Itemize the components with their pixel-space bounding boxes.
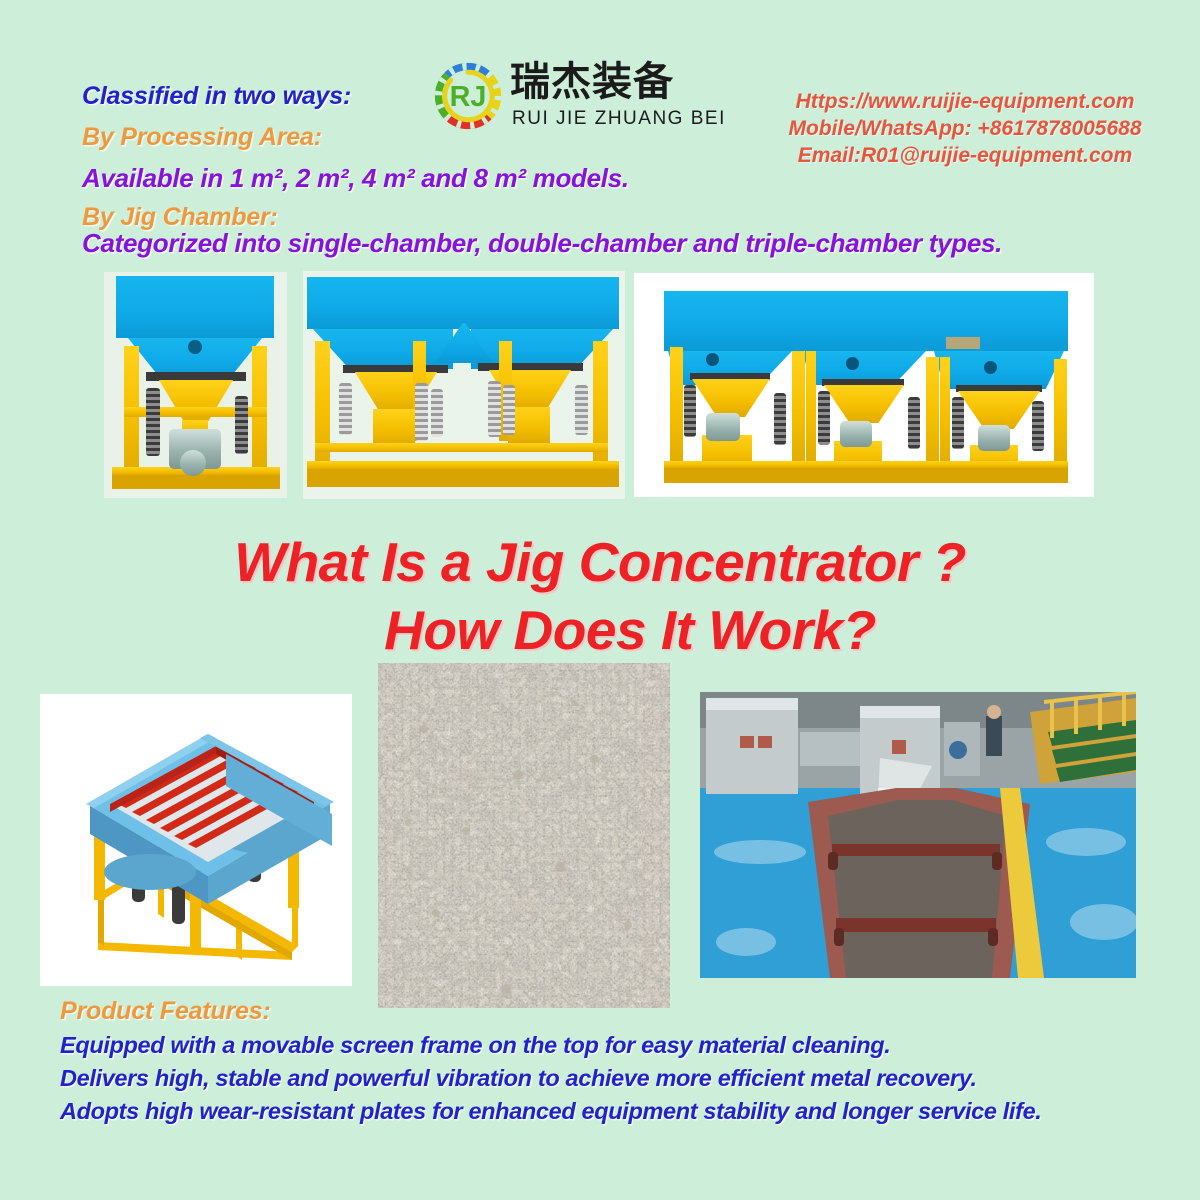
gear-logo-icon: RJ [432,60,504,132]
logo-pinyin-name: RUI JIE ZHUANG BEI [512,108,726,130]
product-feature-item-3: Adopts high wear-resistant plates for en… [60,1098,1042,1125]
by-processing-area-text: Available in 1 m², 2 m², 4 m² and 8 m² m… [82,163,629,194]
contact-block: Https://www.ruijie-equipment.com Mobile/… [755,88,1175,169]
infographic-page: Classified in two ways: By Processing Ar… [0,0,1200,1200]
svg-text:RJ: RJ [450,81,487,113]
jig-3d-model-image [40,694,352,986]
product-feature-item-1: Equipped with a movable screen frame on … [60,1032,890,1059]
contact-website[interactable]: Https://www.ruijie-equipment.com [755,88,1175,115]
classified-heading: Classified in two ways: [82,82,351,111]
by-processing-area-heading: By Processing Area: [82,123,322,152]
page-title-line-1: What Is a Jig Concentrator ? [0,528,1200,596]
by-jig-chamber-text: Categorized into single-chamber, double-… [82,228,1002,259]
logo-chinese-name: 瑞杰装备 [510,60,674,104]
contact-mobile[interactable]: Mobile/WhatsApp: +8617878005688 [755,115,1175,142]
page-title-line-2: How Does It Work? [0,596,1200,664]
double-chamber-jig-photo [303,271,625,499]
triple-chamber-jig-photo [634,273,1094,497]
company-logo: RJ 瑞杰装备 RUI JIE ZHUANG BEI [432,58,717,140]
single-chamber-jig-photo [104,272,287,498]
page-title: What Is a Jig Concentrator ? How Does It… [0,528,1200,664]
scrap-metal-material-image [378,663,670,1008]
product-features-heading: Product Features: [60,997,271,1026]
contact-email[interactable]: Email:R01@ruijie-equipment.com [755,142,1175,169]
product-feature-item-2: Delivers high, stable and powerful vibra… [60,1065,977,1092]
factory-installation-image [700,692,1136,978]
